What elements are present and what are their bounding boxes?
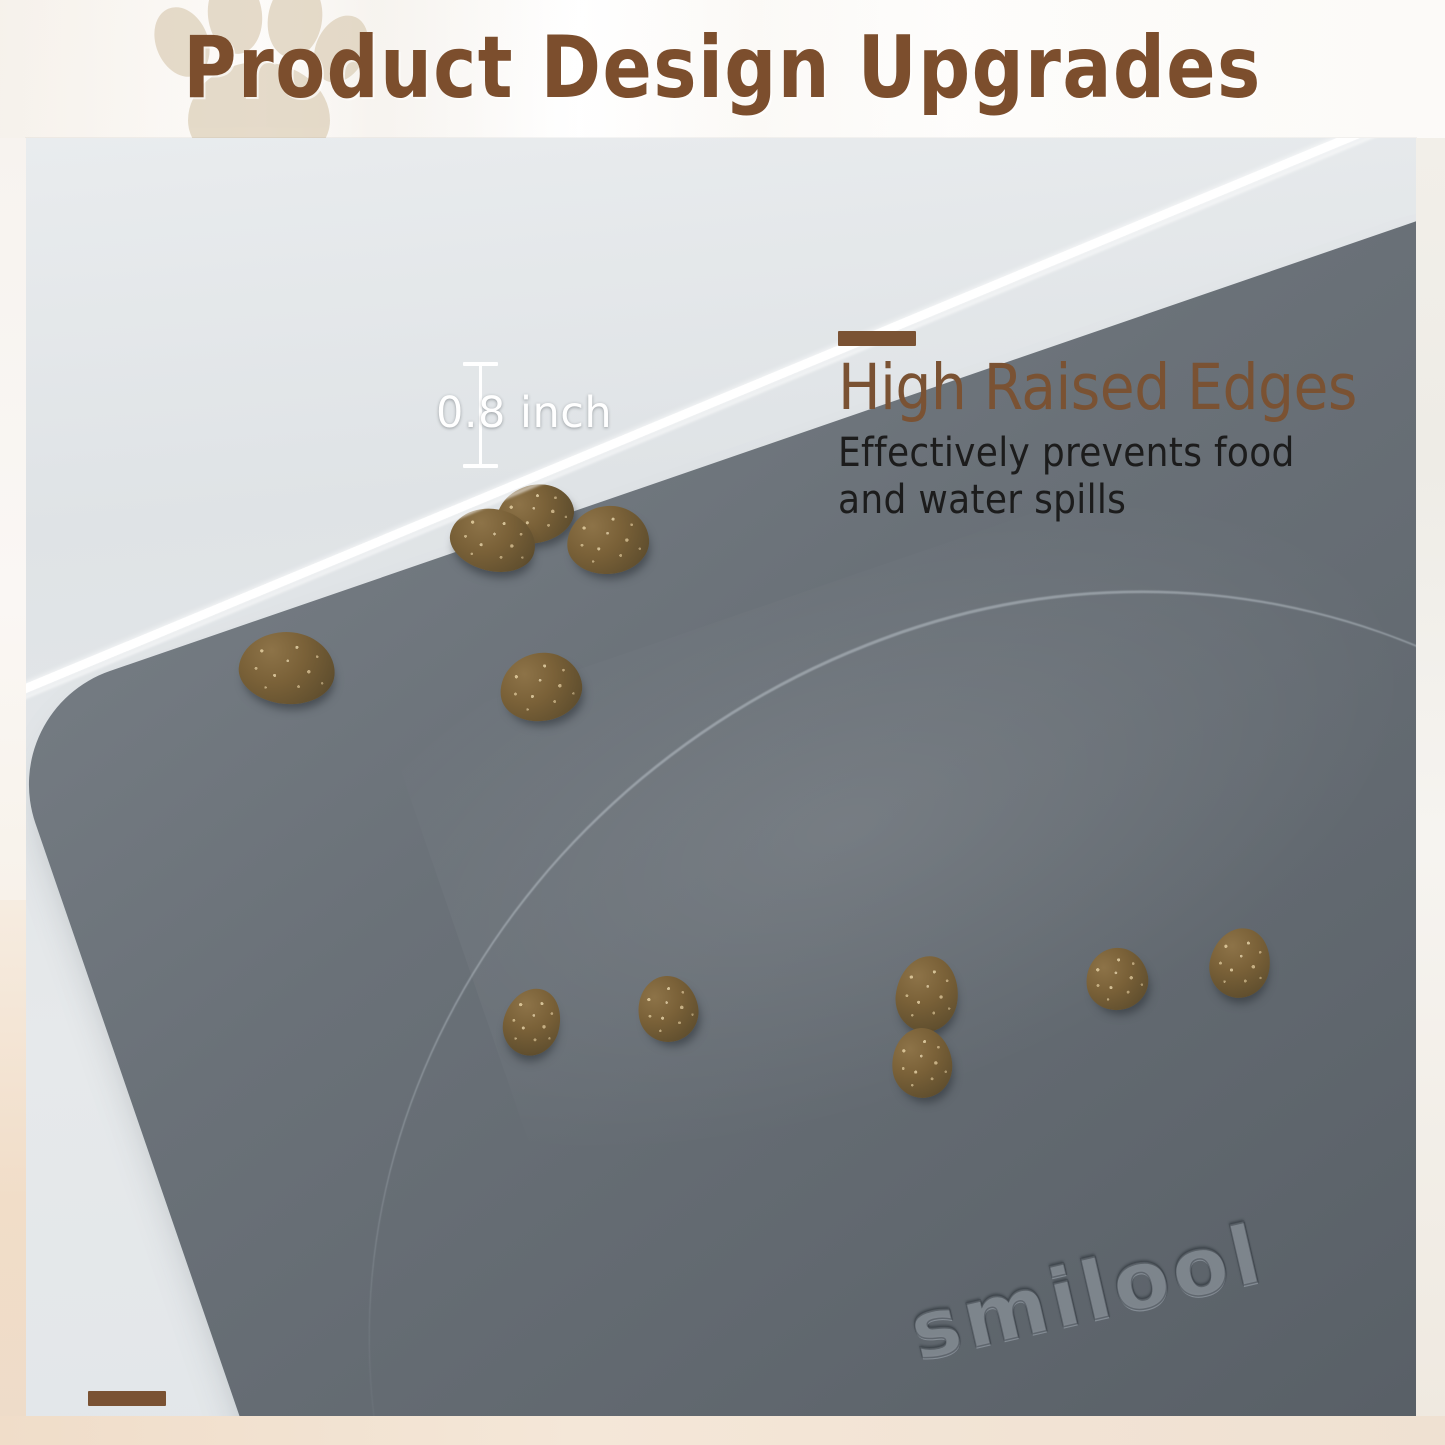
callout-subtitle-line-2: and water spills — [838, 477, 1416, 524]
background-left-upper — [0, 138, 26, 908]
background-bottom-floor — [0, 1416, 1445, 1445]
callout-subtitle: Effectively prevents food and water spil… — [838, 430, 1416, 524]
product-photo-collage: smilool 0.8 inch High Raised Edges Effec… — [26, 138, 1416, 1416]
kibble-piece — [1204, 923, 1275, 1002]
photo-panel-floor-clean: smilool — [26, 138, 1416, 1416]
kibble-piece — [892, 953, 962, 1035]
callout-keeping-floor-clean: Keeping the floor clean Minimizes time s… — [88, 1391, 1288, 1416]
kibble-piece — [1081, 943, 1153, 1015]
callout-high-raised-edges: High Raised Edges Effectively prevents f… — [838, 331, 1416, 525]
kibble-piece — [889, 1025, 956, 1101]
background-left-floor — [0, 900, 26, 1445]
callout-title: High Raised Edges — [838, 356, 1416, 420]
background-right — [1416, 138, 1445, 1416]
page-title: Product Design Upgrades — [43, 18, 1401, 118]
kibble-piece — [235, 627, 338, 709]
dimension-cap-bottom — [463, 464, 498, 468]
callout-subtitle-line-1: Effectively prevents food — [838, 430, 1416, 477]
dimension-label: 0.8 inch — [436, 388, 612, 438]
dimension-cap-top — [463, 362, 498, 366]
product-infographic: Product Design Upgrades smilool — [0, 0, 1445, 1445]
kibble-piece — [496, 648, 587, 727]
header-band: Product Design Upgrades — [0, 0, 1445, 138]
callout-accent-bar — [838, 331, 916, 346]
kibble-piece — [565, 503, 652, 577]
callout-accent-bar — [88, 1391, 166, 1406]
dimension-callout: 0.8 inch — [456, 356, 646, 476]
